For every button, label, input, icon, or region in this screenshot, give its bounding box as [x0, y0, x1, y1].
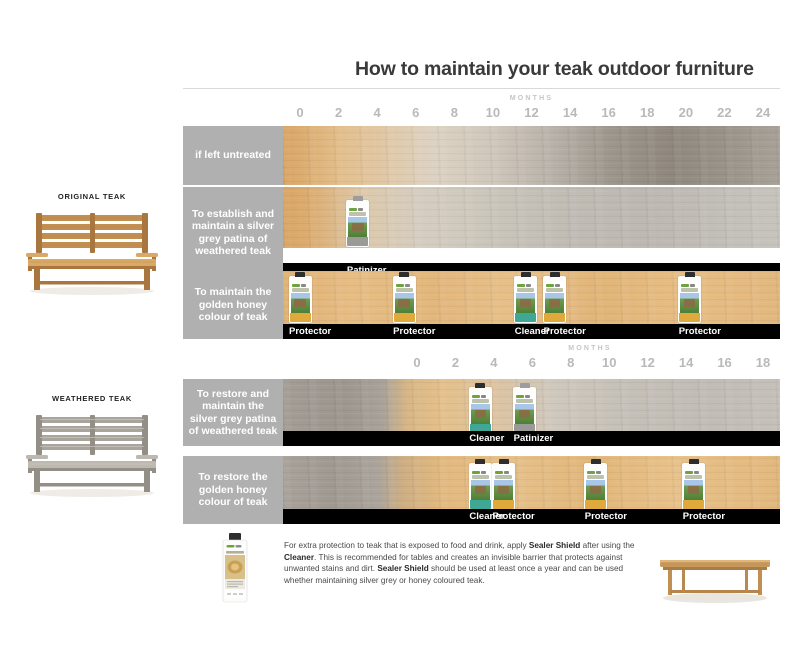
footer-emphasis: Sealer Shield: [377, 564, 428, 573]
bottle-product-name-bar: [495, 475, 512, 479]
bottle-label: [290, 282, 311, 322]
axis-title: MONTHS: [283, 95, 780, 102]
wood-strip-untreated: [283, 126, 780, 185]
product-bottle-cleaner: [514, 276, 537, 323]
footer-text-run: For extra protection to teak that is exp…: [284, 541, 529, 550]
axis-tick-12: 12: [524, 105, 538, 120]
bottle-photo: [348, 217, 367, 237]
footer-emphasis: Cleaner: [284, 553, 314, 562]
axis-tick-2: 2: [452, 355, 459, 370]
bottle-footer-band: [679, 313, 700, 322]
bottle-photo-furniture: [519, 410, 530, 418]
product-caption-protector: Protector: [585, 511, 627, 522]
axis-tick-10: 10: [602, 355, 616, 370]
bottle-product-name-bar: [349, 212, 366, 216]
product-bottle-protector: [682, 463, 705, 510]
bottle-label: [514, 393, 535, 433]
bottle-photo-furniture: [475, 410, 486, 418]
axis-tick-24: 24: [756, 105, 770, 120]
product-bottle-protector: [289, 276, 312, 323]
title-divider: [183, 88, 780, 89]
infographic-page: How to maintain your teak outdoor furnit…: [0, 0, 800, 655]
bottle-cap-icon: [550, 272, 560, 277]
bottle-footer-band: [290, 313, 311, 322]
row-label-maintain-golden-honey: To maintain the golden honey colour of t…: [183, 271, 283, 339]
footer-text-run: after using the: [580, 541, 634, 550]
product-caption-bar-restore-golden-honey: CleanerProtectorProtectorProtector: [283, 509, 780, 524]
bottle-label: [679, 282, 700, 322]
bottle-photo: [680, 293, 699, 313]
axis-tick-18: 18: [756, 355, 770, 370]
bench-caption-weathered-teak: WEATHERED TEAK: [12, 394, 172, 403]
bottle-cap-icon: [353, 196, 363, 201]
product-caption-protector: Protector: [544, 326, 586, 337]
axis-tick-14: 14: [563, 105, 577, 120]
wood-grain-texture-2: [283, 456, 780, 511]
bottle-photo-furniture: [475, 486, 486, 494]
axis-tick-16: 16: [601, 105, 615, 120]
product-caption-protector: Protector: [683, 511, 725, 522]
bottle-footer-band: [493, 500, 514, 509]
product-caption-cleaner: Cleaner: [469, 433, 504, 444]
bottle-cap-icon: [399, 272, 409, 277]
bottle-photo: [471, 480, 490, 500]
product-caption-bar-maintain-golden-honey: ProtectorProtectorCleanerProtectorProtec…: [283, 324, 780, 339]
bottle-photo: [395, 293, 414, 313]
footer-emphasis: Sealer Shield: [529, 541, 580, 550]
axis-tick-14: 14: [679, 355, 693, 370]
axis-tick-8: 8: [567, 355, 574, 370]
bottle-cap-icon: [689, 459, 699, 464]
product-bottle-cleaner: [469, 387, 492, 434]
row-label-establish-silver-grey: To establish and maintain a silver grey …: [183, 187, 283, 278]
bottle-photo-furniture: [590, 486, 601, 494]
product-bottle-protector: [543, 276, 566, 323]
axis-tick-4: 4: [490, 355, 497, 370]
product-bottle-patinizer: [346, 200, 369, 247]
bottle-product-name-bar: [292, 288, 309, 292]
axis-months-1: MONTHS024681012141618: [400, 345, 780, 375]
bottle-label: [493, 469, 514, 509]
bottle-photo-furniture: [549, 299, 560, 307]
bottle-photo: [545, 293, 564, 313]
bottle-footer-band: [585, 500, 606, 509]
bottle-product-name-bar: [546, 288, 563, 292]
bottle-cap-icon: [520, 383, 530, 388]
bottle-cap-icon: [295, 272, 305, 277]
bottle-photo-furniture: [294, 299, 305, 307]
teak-table-photo: [652, 538, 778, 606]
bottle-label: [347, 206, 368, 246]
wood-strip-restore-golden-honey: [283, 456, 780, 511]
bottle-photo: [516, 293, 535, 313]
bottle-cap-icon: [475, 459, 485, 464]
bottle-footer-band: [544, 313, 565, 322]
bottle-cap-icon: [521, 272, 531, 277]
bottle-footer-band: [683, 500, 704, 509]
product-caption-protector: Protector: [393, 326, 435, 337]
bottle-photo-furniture: [520, 299, 531, 307]
bottle-footer-band: [515, 313, 536, 322]
bottle-photo: [471, 404, 490, 424]
axis-tick-6: 6: [529, 355, 536, 370]
product-bottle-protector: [678, 276, 701, 323]
product-bottle-patinizer: [513, 387, 536, 434]
bottle-label: [394, 282, 415, 322]
bottle-cap-icon: [475, 383, 485, 388]
bottle-photo: [515, 404, 534, 424]
product-bottle-protector: [393, 276, 416, 323]
bottle-photo-furniture: [398, 299, 409, 307]
bottle-photo: [586, 480, 605, 500]
product-caption-protector: Protector: [289, 326, 331, 337]
bottle-footer-band: [347, 237, 368, 246]
page-title: How to maintain your teak outdoor furnit…: [355, 58, 767, 81]
bottle-photo: [494, 480, 513, 500]
bottle-footer-band: [394, 313, 415, 322]
product-caption-protector: Protector: [679, 326, 721, 337]
axis-tick-16: 16: [717, 355, 731, 370]
bottle-label: [470, 469, 491, 509]
axis-tick-0: 0: [296, 105, 303, 120]
row-label-restore-silver-grey: To restore and maintain the silver grey …: [183, 379, 283, 446]
bottle-photo-furniture: [498, 486, 509, 494]
axis-tick-8: 8: [451, 105, 458, 120]
bottle-product-name-bar: [681, 288, 698, 292]
bench-caption-original-teak: ORIGINAL TEAK: [12, 192, 172, 201]
bottle-product-name-bar: [516, 399, 533, 403]
product-caption-bar-restore-silver-grey: CleanerPatinizer: [283, 431, 780, 446]
bottle-product-name-bar: [396, 288, 413, 292]
row-label-restore-golden-honey: To restore the golden honey colour of te…: [183, 456, 283, 524]
bottle-label: [544, 282, 565, 322]
axis-tick-22: 22: [717, 105, 731, 120]
axis-tick-6: 6: [412, 105, 419, 120]
axis-tick-2: 2: [335, 105, 342, 120]
sealer-shield-bottle: [218, 533, 252, 603]
bottle-label: [683, 469, 704, 509]
bottle-cap-icon: [499, 459, 509, 464]
product-bottle-protector: [492, 463, 515, 510]
row-label-untreated: if left untreated: [183, 126, 283, 185]
axis-tick-10: 10: [486, 105, 500, 120]
bench-image-weathered-teak: [12, 405, 172, 500]
bottle-photo: [291, 293, 310, 313]
bottle-label: [515, 282, 536, 322]
axis-tick-4: 4: [374, 105, 381, 120]
axis-months-0: MONTHS024681012141618202224: [283, 95, 780, 125]
axis-tick-18: 18: [640, 105, 654, 120]
bottle-photo: [684, 480, 703, 500]
axis-tick-0: 0: [413, 355, 420, 370]
bottle-label: [470, 393, 491, 433]
bottle-product-name-bar: [472, 475, 489, 479]
bottle-product-name-bar: [685, 475, 702, 479]
bottle-photo-furniture: [688, 486, 699, 494]
bench-image-original-teak: [12, 203, 172, 298]
wood-grain-texture: [283, 126, 780, 185]
product-bottle-cleaner: [469, 463, 492, 510]
wood-grain-texture: [283, 456, 780, 511]
product-caption-patinizer: Patinizer: [514, 433, 554, 444]
product-caption-protector: Protector: [493, 511, 535, 522]
bottle-product-name-bar: [517, 288, 534, 292]
bottle-product-name-bar: [587, 475, 604, 479]
bottle-photo-furniture: [684, 299, 695, 307]
axis-tick-20: 20: [679, 105, 693, 120]
bottle-product-name-bar: [472, 399, 489, 403]
footer-paragraph: For extra protection to teak that is exp…: [284, 540, 639, 586]
axis-tick-12: 12: [640, 355, 654, 370]
bottle-label: [585, 469, 606, 509]
bottle-cap-icon: [685, 272, 695, 277]
bottle-footer-band: [470, 500, 491, 509]
product-bottle-protector: [584, 463, 607, 510]
bottle-photo-furniture: [352, 223, 363, 231]
wood-grain-texture-2: [283, 126, 780, 185]
bottle-cap-icon: [591, 459, 601, 464]
axis-title: MONTHS: [400, 345, 780, 352]
